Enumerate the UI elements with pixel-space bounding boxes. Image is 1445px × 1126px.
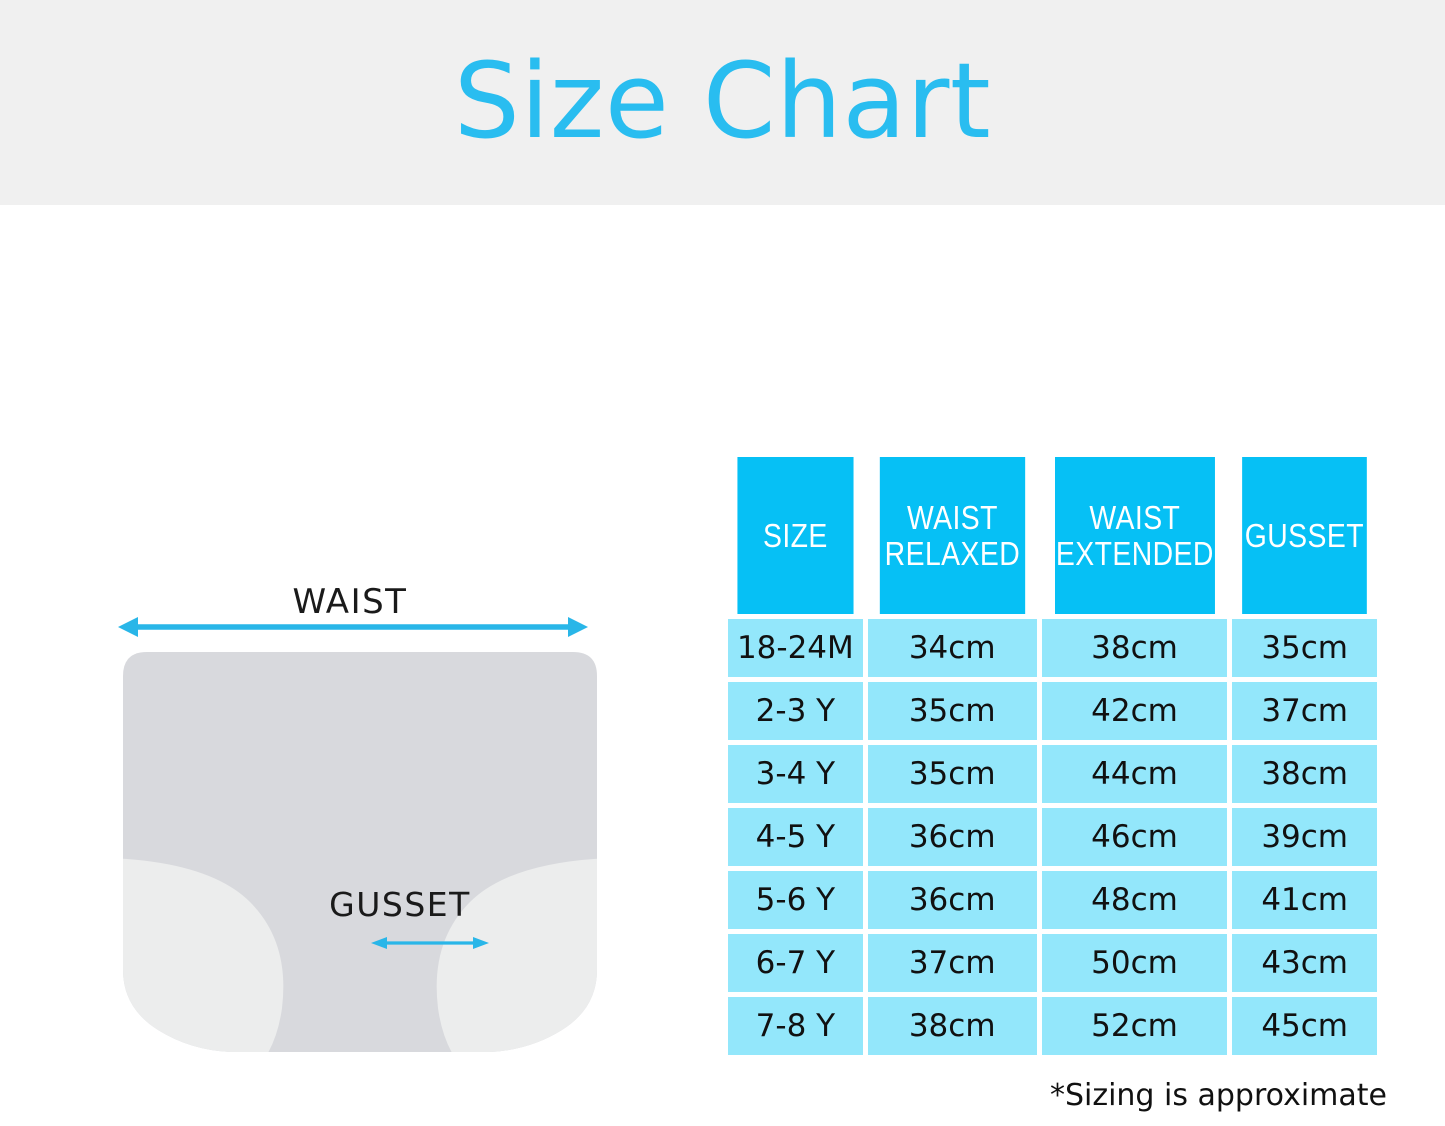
cell-size: 5-6 Y: [728, 871, 863, 929]
column-header-waist-extended-line2: EXTENDED: [1055, 535, 1213, 572]
cell-size: 7-8 Y: [728, 997, 863, 1055]
table-row: 4-5 Y 36cm 46cm 39cm: [728, 808, 1377, 866]
column-header-waist-relaxed: WAIST RELAXED: [880, 457, 1025, 614]
cell-gusset: 39cm: [1232, 808, 1377, 866]
table-header-row: SIZE WAIST RELAXED WAIST EXTENDED GUSSET: [728, 457, 1377, 614]
cell-gusset: 43cm: [1232, 934, 1377, 992]
cell-gusset: 45cm: [1232, 997, 1377, 1055]
table-row: 2-3 Y 35cm 42cm 37cm: [728, 682, 1377, 740]
column-header-waist-relaxed-line2: RELAXED: [884, 535, 1020, 572]
table-row: 18-24M 34cm 38cm 35cm: [728, 619, 1377, 677]
gusset-measurement-label: GUSSET: [295, 885, 505, 924]
column-header-size: SIZE: [737, 457, 853, 614]
cell-gusset: 35cm: [1232, 619, 1377, 677]
cell-waist-relaxed: 36cm: [868, 871, 1037, 929]
cell-gusset: 38cm: [1232, 745, 1377, 803]
cell-waist-relaxed: 35cm: [868, 745, 1037, 803]
cell-waist-extended: 48cm: [1042, 871, 1228, 929]
cell-waist-relaxed: 38cm: [868, 997, 1037, 1055]
table-row: 6-7 Y 37cm 50cm 43cm: [728, 934, 1377, 992]
title-banner: Size Chart: [0, 0, 1445, 205]
cell-size: 2-3 Y: [728, 682, 863, 740]
table-row: 7-8 Y 38cm 52cm 45cm: [728, 997, 1377, 1055]
column-header-waist-relaxed-line1: WAIST: [907, 499, 998, 536]
cell-waist-relaxed: 35cm: [868, 682, 1037, 740]
column-header-waist-extended: WAIST EXTENDED: [1055, 457, 1215, 614]
table-row: 3-4 Y 35cm 44cm 38cm: [728, 745, 1377, 803]
cell-waist-relaxed: 36cm: [868, 808, 1037, 866]
cell-waist-extended: 50cm: [1042, 934, 1228, 992]
cell-waist-extended: 44cm: [1042, 745, 1228, 803]
cell-waist-extended: 38cm: [1042, 619, 1228, 677]
cell-waist-extended: 52cm: [1042, 997, 1228, 1055]
cell-size: 3-4 Y: [728, 745, 863, 803]
sizing-footnote: *Sizing is approximate: [728, 1078, 1387, 1113]
cell-waist-extended: 46cm: [1042, 808, 1228, 866]
page-title: Size Chart: [0, 46, 1445, 156]
column-header-waist-extended-line1: WAIST: [1089, 499, 1180, 536]
waist-double-arrow-icon: [118, 612, 588, 642]
cell-size: 18-24M: [728, 619, 863, 677]
column-header-size-line1: SIZE: [763, 517, 828, 554]
cell-gusset: 37cm: [1232, 682, 1377, 740]
underwear-illustration: [90, 640, 630, 1070]
column-header-gusset-line1: GUSSET: [1245, 517, 1364, 554]
cell-waist-relaxed: 37cm: [868, 934, 1037, 992]
cell-size: 6-7 Y: [728, 934, 863, 992]
column-header-gusset: GUSSET: [1242, 457, 1366, 614]
underwear-measurement-diagram: WAIST GUSSET: [90, 560, 630, 1070]
table-row: 5-6 Y 36cm 48cm 41cm: [728, 871, 1377, 929]
gusset-double-arrow-icon: [275, 932, 525, 954]
cell-waist-relaxed: 34cm: [868, 619, 1037, 677]
cell-gusset: 41cm: [1232, 871, 1377, 929]
cell-waist-extended: 42cm: [1042, 682, 1228, 740]
cell-size: 4-5 Y: [728, 808, 863, 866]
size-chart-table: SIZE WAIST RELAXED WAIST EXTENDED GUSSET…: [723, 452, 1382, 1060]
